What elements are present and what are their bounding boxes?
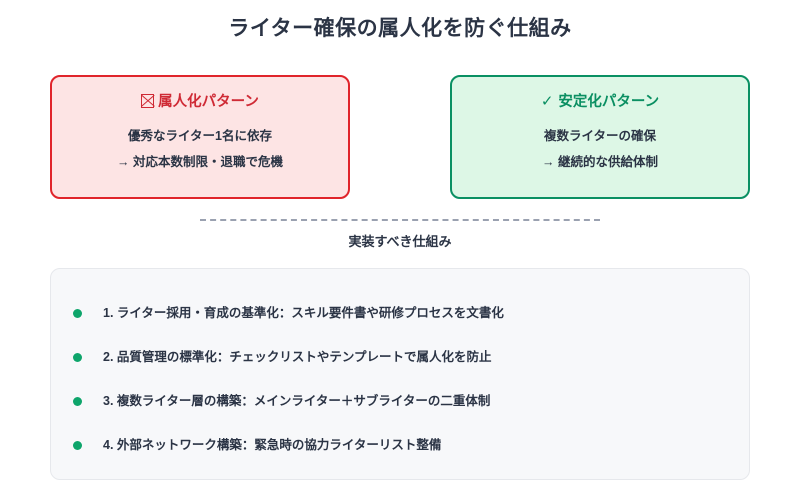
card-anti-pattern-heading: 属人化パターン bbox=[52, 91, 348, 113]
page-title: ライター確保の属人化を防ぐ仕組み bbox=[0, 14, 800, 44]
card-stable-pattern-heading: ✓安定化パターン bbox=[452, 91, 748, 113]
bullet-dot-icon bbox=[73, 309, 82, 318]
card-anti-pattern-line-2: → 対応本数制限・退職で危機 bbox=[52, 149, 348, 175]
card-anti-pattern-line-1: 優秀なライター1名に依存 bbox=[52, 123, 348, 149]
measures-panel: 1. ライター採用・育成の基準化：スキル要件書や研修プロセスを文書化 2. 品質… bbox=[50, 268, 750, 480]
list-item-label: 3. 複数ライター層の構築：メインライター＋サブライターの二重体制 bbox=[103, 392, 490, 410]
dashed-divider bbox=[200, 219, 600, 221]
infographic-page: ライター確保の属人化を防ぐ仕組み 属人化パターン 優秀なライター1名に依存 → … bbox=[0, 0, 800, 500]
card-anti-pattern-heading-text: 属人化パターン bbox=[158, 94, 259, 110]
comparison-cards: 属人化パターン 優秀なライター1名に依存 → 対応本数制限・退職で危機 ✓安定化… bbox=[50, 75, 750, 199]
card-stable-pattern: ✓安定化パターン 複数ライターの確保 → 継続的な供給体制 bbox=[450, 75, 750, 199]
list-item-label: 2. 品質管理の標準化：チェックリストやテンプレートで属人化を防止 bbox=[103, 348, 492, 366]
section-subtitle: 実装すべき仕組み bbox=[0, 232, 800, 252]
bullet-dot-icon bbox=[73, 397, 82, 406]
list-item: 4. 外部ネットワーク構築：緊急時の協力ライターリスト整備 bbox=[51, 423, 749, 467]
list-item: 2. 品質管理の標準化：チェックリストやテンプレートで属人化を防止 bbox=[51, 335, 749, 379]
bullet-dot-icon bbox=[73, 353, 82, 362]
list-item-label: 1. ライター採用・育成の基準化：スキル要件書や研修プロセスを文書化 bbox=[103, 304, 504, 322]
list-item: 3. 複数ライター層の構築：メインライター＋サブライターの二重体制 bbox=[51, 379, 749, 423]
bullet-dot-icon bbox=[73, 441, 82, 450]
check-mark-icon: ✓ bbox=[541, 91, 554, 113]
ballot-box-with-x-icon bbox=[141, 94, 154, 108]
card-anti-pattern: 属人化パターン 優秀なライター1名に依存 → 対応本数制限・退職で危機 bbox=[50, 75, 350, 199]
list-item-label: 4. 外部ネットワーク構築：緊急時の協力ライターリスト整備 bbox=[103, 436, 441, 454]
card-stable-pattern-line-1: 複数ライターの確保 bbox=[452, 123, 748, 149]
list-item: 1. ライター採用・育成の基準化：スキル要件書や研修プロセスを文書化 bbox=[51, 291, 749, 335]
card-stable-pattern-heading-text: 安定化パターン bbox=[558, 94, 659, 110]
card-stable-pattern-line-2: → 継続的な供給体制 bbox=[452, 149, 748, 175]
